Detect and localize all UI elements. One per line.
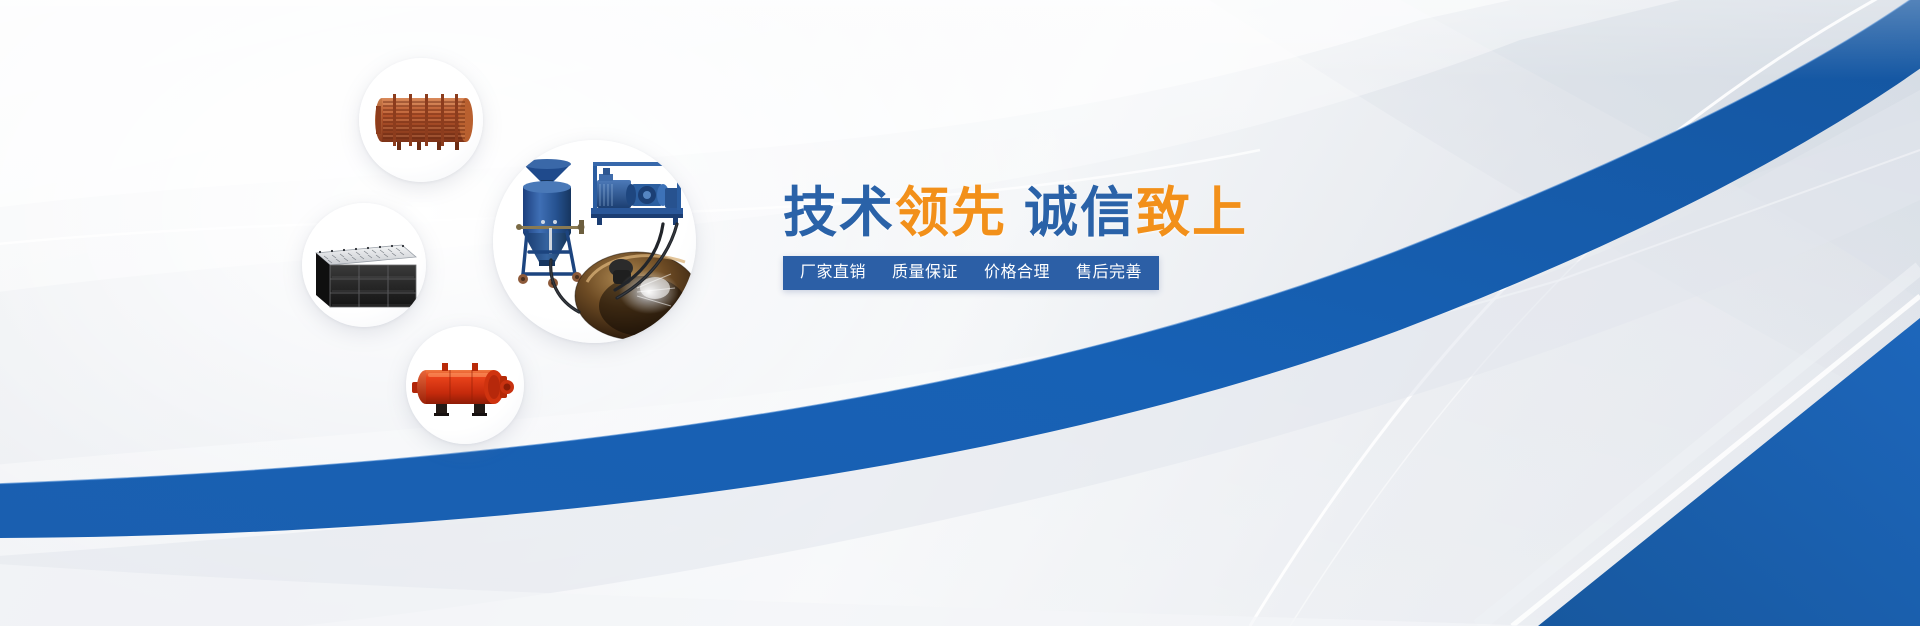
product-circle-pressure-vessel (406, 326, 524, 444)
pressure-vessel-image (406, 326, 524, 444)
product-circle-plate-heat-exchanger (302, 203, 426, 327)
tagline-item-factory-direct: 厂家直销 (800, 265, 866, 281)
headline-segment-2: 领先 (895, 183, 1007, 243)
headline-segment-1: 技术 (783, 183, 895, 243)
tagline-item-fair-price: 价格合理 (984, 265, 1050, 281)
background-swoosh-graphics (0, 0, 1920, 626)
tagline-bar: 厂家直销 质量保证 价格合理 售后完善 (783, 256, 1159, 290)
tagline-item-after-sales: 售后完善 (1076, 265, 1142, 281)
tagline-item-quality-assured: 质量保证 (892, 265, 958, 281)
copper-tube-bundle-image (359, 58, 483, 182)
headline-segment-3: 诚信 (1024, 183, 1136, 243)
page-title: 技术领先 诚信致上 (783, 186, 1248, 240)
headline-segment-4: 致上 (1136, 183, 1248, 243)
headline-segment-space (1007, 183, 1024, 243)
plate-heat-exchanger-image (302, 203, 426, 327)
promo-banner: 技术领先 诚信致上 厂家直销 质量保证 价格合理 售后完善 (0, 0, 1920, 626)
sandblasting-unit-image (493, 140, 696, 343)
product-circle-copper-tube-bundle (359, 58, 483, 182)
product-circle-sandblasting-unit (493, 140, 696, 343)
